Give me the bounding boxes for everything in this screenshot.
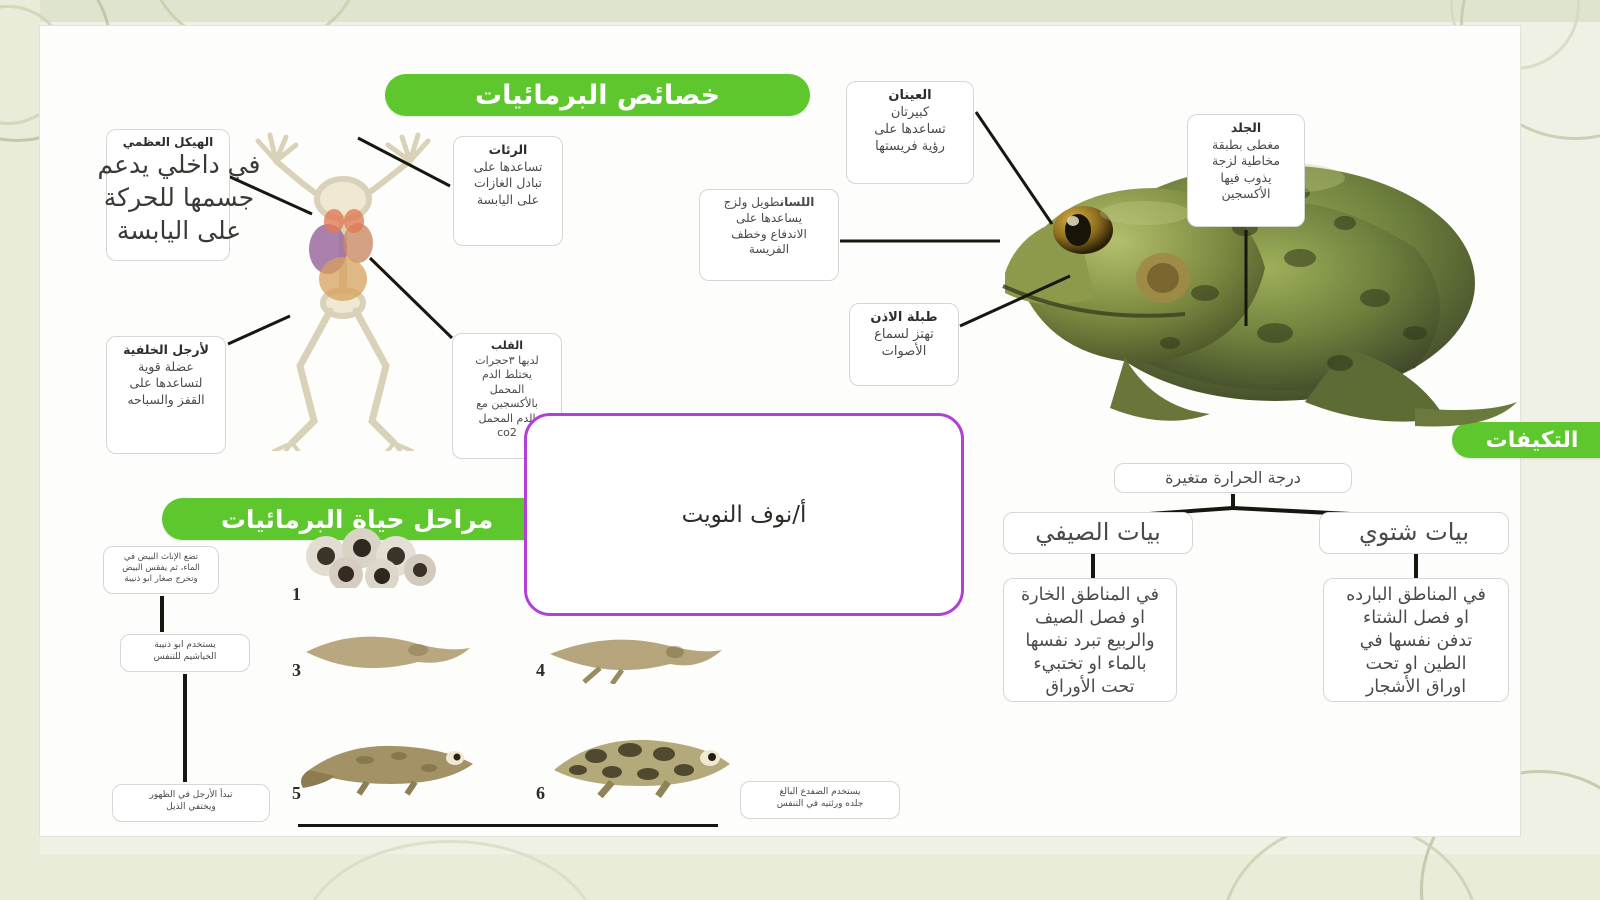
- adaptation-summer-label: بيات الصيفي: [1003, 512, 1193, 554]
- callout-line: يذوب فيها: [1195, 170, 1297, 187]
- detail-line: في المناطق البارده: [1331, 584, 1501, 607]
- section-title-characteristics: خصائص البرمائيات: [385, 74, 810, 116]
- lifecycle-note-gills: يستخدم ابو ذنيبة الخياشيم للتنفس: [120, 634, 250, 672]
- tadpole-with-legs-illustration: [540, 622, 730, 684]
- callout-line: الفريسة: [707, 242, 831, 258]
- lifecycle-note-eggs: تضع الإناث البيض في الماء، ثم يفقس البيض…: [103, 546, 219, 594]
- stage-number-3: 3: [292, 660, 301, 681]
- adaptation-summer-detail: في المناطق الخارة او فصل الصيف والربيع ت…: [1003, 578, 1177, 702]
- callout-line: الأكسجين: [1195, 186, 1297, 203]
- callout-line: القفز والسباحه: [114, 392, 218, 409]
- callout-lungs: الرئات تساعدها على تبادل الغازات على الي…: [453, 136, 563, 246]
- note-line: الماء، ثم يفقس البيض: [111, 563, 211, 574]
- detail-line: بالماء او تختبيء: [1011, 653, 1169, 676]
- callout-tongue-first-line: اللسانطويل ولزج: [707, 195, 831, 211]
- note-line: الخياشيم للتنفس: [128, 652, 242, 664]
- stage-number-4: 4: [536, 660, 545, 681]
- frog-skeleton-illustration: [230, 121, 455, 451]
- callout-skin-title: الجلد: [1195, 120, 1297, 137]
- callout-line: رؤية فريستها: [854, 138, 966, 155]
- callout-line: لديها ٣حجرات: [460, 354, 554, 369]
- callout-line: لتساعدها على: [114, 375, 218, 392]
- callout-hind-legs: لأرجل الخلفية عضلة قوية لتساعدها على الق…: [106, 336, 226, 454]
- callout-line: طويل ولزج: [724, 195, 780, 209]
- callout-line: يساعدها على: [707, 211, 831, 227]
- note-line: يستخدم الضفدع البالغ: [748, 787, 892, 799]
- stage-number-1: 1: [292, 584, 301, 605]
- adaptation-root-temperature: درجة الحرارة متغيرة: [1114, 463, 1352, 493]
- stage-number-6: 6: [536, 783, 545, 804]
- callout-line: تبادل الغازات: [461, 175, 555, 192]
- callout-line: كبيرتان: [854, 104, 966, 121]
- callout-line: يختلط الدم: [460, 368, 554, 383]
- lifecycle-note-legs: تبدأ الأرجل في الظهور ويختفي الذيل: [112, 784, 270, 822]
- callout-line: مخاطية لزجة: [1195, 153, 1297, 170]
- note-line: ويختفي الذيل: [120, 802, 262, 814]
- callout-line: على اليابسة: [461, 192, 555, 209]
- callout-eardrum-title: طبلة الاذن: [857, 309, 951, 326]
- callout-line: تساعدها على: [854, 121, 966, 138]
- adaptation-winter-label: بيات شتوي: [1319, 512, 1509, 554]
- callout-heart-title: القلب: [460, 339, 554, 354]
- callout-line: مغطى بطبقة: [1195, 137, 1297, 154]
- callout-line: المحمل: [460, 383, 554, 398]
- note-line: يستخدم ابو ذنيبة: [128, 640, 242, 652]
- detail-line: والربيع تبرد نفسها: [1011, 630, 1169, 653]
- callout-tongue: اللسانطويل ولزج يساعدها على الاندفاع وخط…: [699, 189, 839, 281]
- stage-number-5: 5: [292, 783, 301, 804]
- callout-line: الاندفاع وخطف: [707, 227, 831, 243]
- callout-line: بالأكسجين مع: [460, 397, 554, 412]
- slide-canvas: خصائص البرمائيات مراحل حياة البرمائيات ا…: [0, 0, 1600, 900]
- callout-tongue-title: اللسان: [780, 195, 815, 209]
- detail-line: الطين او تحت: [1331, 653, 1501, 676]
- frog-eggs-illustration: [296, 526, 466, 588]
- lifecycle-note-adult: يستخدم الضفدع البالغ جلده ورئتيه في التن…: [740, 781, 900, 819]
- detail-line: تدفن نفسها في: [1331, 630, 1501, 653]
- detail-line: او فصل الشتاء: [1331, 607, 1501, 630]
- content-area: خصائص البرمائيات مراحل حياة البرمائيات ا…: [40, 26, 1520, 836]
- callout-skin: الجلد مغطى بطبقة مخاطية لزجة يذوب فيها ا…: [1187, 114, 1305, 227]
- adult-frog-illustration: [538, 724, 748, 798]
- callout-eyes: العينان كبيرتان تساعدها على رؤية فريستها: [846, 81, 974, 184]
- adaptation-winter-detail: في المناطق البارده او فصل الشتاء تدفن نف…: [1323, 578, 1509, 702]
- lifecycle-baseline: [298, 824, 718, 827]
- callout-hind-legs-title: لأرجل الخلفية: [114, 342, 218, 359]
- author-note-box: أ/نوف النويت: [524, 413, 964, 616]
- callout-skeleton: الهيكل العظمي: [106, 129, 230, 261]
- callout-eyes-title: العينان: [854, 87, 966, 104]
- tadpole-illustration: [298, 622, 478, 680]
- callout-line: عضلة قوية: [114, 359, 218, 376]
- author-note-text: أ/نوف النويت: [682, 502, 807, 528]
- detail-line: اوراق الأشجار: [1331, 676, 1501, 699]
- note-line: تضع الإناث البيض في: [111, 552, 211, 563]
- detail-line: تحت الأوراق: [1011, 676, 1169, 699]
- callout-lungs-title: الرئات: [461, 142, 555, 159]
- froglet-illustration: [295, 726, 495, 796]
- callout-line: تساعدها على: [461, 159, 555, 176]
- detail-line: في المناطق الخارة: [1011, 584, 1169, 607]
- callout-line: تهتز لسماع: [857, 326, 951, 343]
- callout-line: الأصوات: [857, 343, 951, 360]
- note-line: جلده ورئتيه في التنفس: [748, 799, 892, 811]
- note-line: وتخرج صغار ابو ذنيبة: [111, 574, 211, 585]
- callout-skeleton-title: الهيكل العظمي: [114, 135, 222, 151]
- callout-eardrum: طبلة الاذن تهتز لسماع الأصوات: [849, 303, 959, 386]
- note-line: تبدأ الأرجل في الظهور: [120, 790, 262, 802]
- detail-line: او فصل الصيف: [1011, 607, 1169, 630]
- lifecycle-stem-lines: [162, 596, 185, 782]
